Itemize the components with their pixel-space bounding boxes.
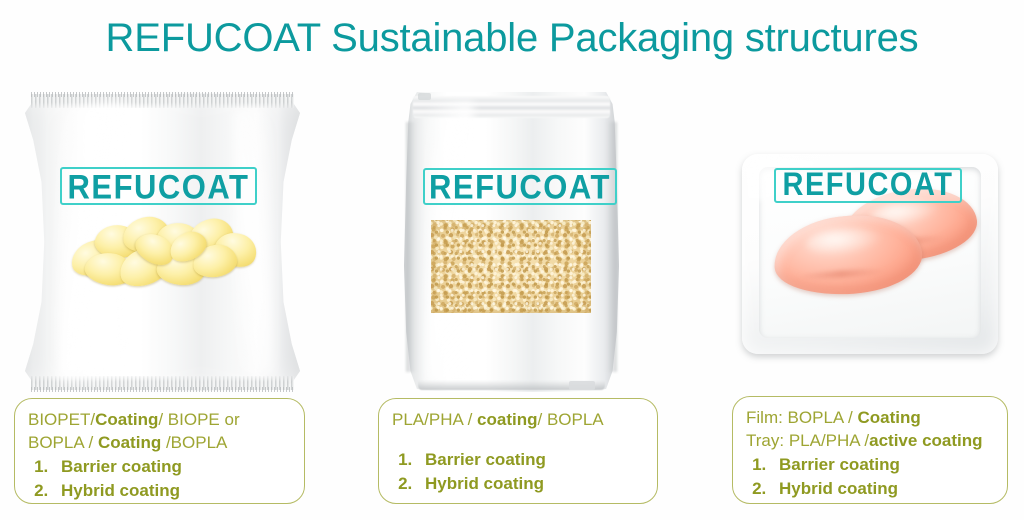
- structure-term-bold: Coating: [857, 408, 920, 427]
- package-grain-pouch: REFUCOAT: [404, 92, 619, 392]
- refucoat-logo-grain-pouch: REFUCOAT: [423, 168, 617, 205]
- callout-grain-pouch: PLA/PHA / coating/ BOPLA Barrier coating…: [378, 398, 658, 504]
- structure-term: BIOPET/: [28, 410, 95, 429]
- structure-term-bold: Coating: [98, 433, 161, 452]
- structure-term: PLA/PHA /: [392, 410, 477, 429]
- list-item: Hybrid coating: [771, 477, 997, 501]
- structure-term-bold: active coating: [869, 431, 982, 450]
- structure-term: Tray: PLA/PHA /: [746, 431, 869, 450]
- callout-chip-bag: BIOPET/Coating/ BIOPE orBOPLA / Coating …: [14, 398, 305, 504]
- package-meat-tray: REFUCOAT: [742, 154, 998, 354]
- structure-term: BOPLA /: [28, 433, 98, 452]
- structure-lines-container: PLA/PHA / coating/ BOPLA: [392, 408, 647, 447]
- grain-pouch-bottom-notch: [569, 381, 595, 390]
- chicken-highlight: [805, 226, 884, 258]
- coating-list: Barrier coatingHybrid coating: [392, 448, 647, 496]
- structure-line: Film: BOPLA / Coating: [746, 406, 997, 429]
- grain-texture-fine: [431, 220, 591, 313]
- grain-pouch-left-seam: [406, 122, 417, 372]
- grain-window: [431, 220, 591, 313]
- list-item: Barrier coating: [771, 453, 997, 477]
- structure-line: PLA/PHA / coating/ BOPLA: [392, 408, 647, 431]
- structure-line: Tray: PLA/PHA /active coating: [746, 429, 997, 452]
- grain-pouch-right-seam: [606, 122, 617, 372]
- chip-bag-top-serration: [31, 92, 294, 97]
- structure-line: BIOPET/Coating/ BIOPE or: [28, 408, 294, 431]
- structure-term-bold: coating: [477, 410, 537, 429]
- structure-line: BOPLA / Coating /BOPLA: [28, 431, 294, 454]
- coating-list: Barrier coatingHybrid coating: [28, 455, 294, 503]
- package-chip-bag: REFUCOAT: [25, 92, 300, 392]
- list-item: Hybrid coating: [53, 479, 294, 503]
- callout-meat-tray: Film: BOPLA / CoatingTray: PLA/PHA /acti…: [732, 396, 1008, 504]
- potato-chips-pile: [69, 215, 259, 287]
- structure-term: Film: BOPLA /: [746, 408, 857, 427]
- refucoat-logo-text: REFUCOAT: [68, 169, 250, 204]
- list-item: Barrier coating: [417, 448, 647, 472]
- spacer: [392, 431, 647, 447]
- structure-lines-container: Film: BOPLA / CoatingTray: PLA/PHA /acti…: [746, 406, 997, 452]
- refucoat-logo-chip-bag: REFUCOAT: [60, 167, 257, 205]
- refucoat-logo-meat-tray: REFUCOAT: [774, 168, 962, 203]
- page-title: REFUCOAT Sustainable Packaging structure…: [0, 16, 1024, 61]
- list-item: Barrier coating: [53, 455, 294, 479]
- refucoat-logo-text: REFUCOAT: [783, 169, 954, 201]
- chicken-crease: [796, 267, 888, 280]
- refucoat-logo-text: REFUCOAT: [429, 169, 611, 204]
- coating-list: Barrier coatingHybrid coating: [746, 453, 997, 501]
- structure-term: / BOPLA: [538, 410, 604, 429]
- structure-term-bold: Coating: [95, 410, 158, 429]
- structure-term: /BOPLA: [161, 433, 227, 452]
- structure-lines-container: BIOPET/Coating/ BIOPE orBOPLA / Coating …: [28, 408, 294, 454]
- chip-bag-bottom-serration: [31, 387, 294, 392]
- structure-term: / BIOPE or: [158, 410, 239, 429]
- list-item: Hybrid coating: [417, 472, 647, 496]
- grain-pouch-tear-tab: [418, 93, 431, 100]
